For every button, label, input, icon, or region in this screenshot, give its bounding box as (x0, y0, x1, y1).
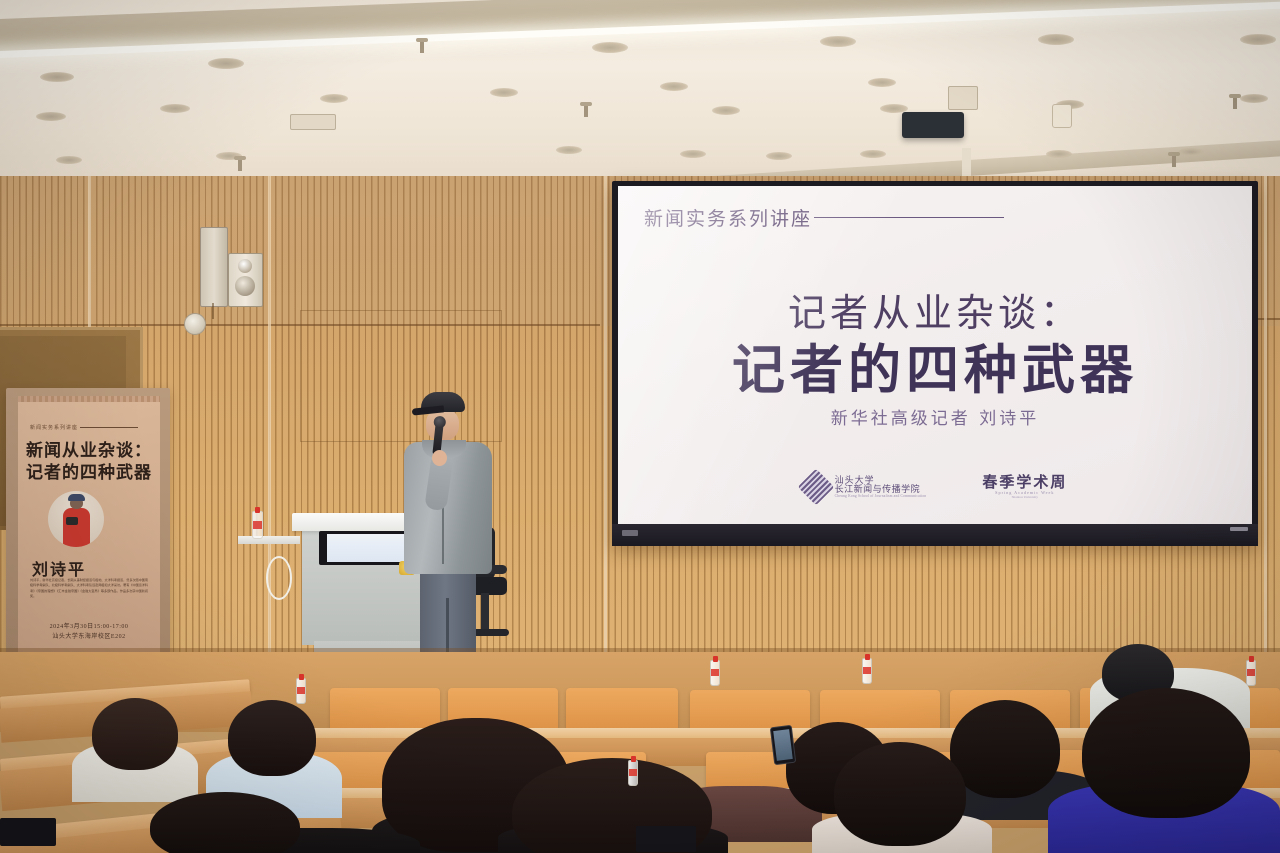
power-cable (266, 556, 292, 600)
presenter (398, 392, 494, 684)
university-logo-line2: 长江新闻与传播学院 (835, 485, 927, 494)
seat-back (330, 688, 440, 732)
screen-ir-sensor-icon (1230, 527, 1248, 531)
water-bottle (1246, 660, 1256, 686)
ceiling-downlight (56, 156, 82, 164)
sprinkler-head (420, 40, 424, 53)
ceiling-downlight (680, 150, 706, 158)
laptop[interactable] (0, 818, 56, 846)
ceiling-downlight (712, 106, 740, 115)
slide-byline: 新华社高级记者 刘诗平 (618, 404, 1252, 429)
audience-head (1082, 688, 1250, 818)
water-bottle (628, 760, 638, 786)
presentation-screen[interactable]: 新闻实务系列讲座 记者从业杂谈： 记者的四种武器 新华社高级记者 刘诗平 汕头大… (618, 186, 1252, 524)
poster-location: 汕头大学东海岸校区E202 (18, 633, 160, 642)
university-logo: 汕头大学 长江新闻与传播学院 Cheung Kong School of Jou… (803, 474, 927, 500)
poster-title-line2: 记者的四种武器 (18, 458, 160, 483)
portrait-cap (68, 494, 85, 501)
screen-bottom-bezel (612, 524, 1258, 546)
ceiling-downlight (320, 94, 348, 103)
ceiling-downlight (766, 152, 792, 160)
poster-series-label: 新闻实务系列讲座 (30, 424, 78, 431)
audience-head (228, 700, 316, 776)
wall-vertical-seam (1264, 176, 1267, 676)
event-poster: 新闻实务系列讲座 新闻从业杂谈： 记者的四种武器 刘诗平 刘诗平，新华社高级记者… (18, 396, 160, 664)
audience-head (834, 742, 966, 846)
event-logo-line2: Spring Academic Week (995, 491, 1054, 496)
ceiling-downlight (660, 82, 688, 91)
ceiling-downlight (1038, 34, 1074, 45)
speaker-woofer-icon (235, 276, 255, 296)
slide-header-rule (814, 217, 1004, 218)
ceiling-downlight (1240, 94, 1268, 103)
wall-sensor-icon (184, 313, 206, 335)
ceiling-downlight (1178, 148, 1204, 156)
ceiling (0, 0, 1280, 190)
sprinkler-head (584, 104, 588, 117)
laptop[interactable] (636, 826, 696, 852)
wall-vertical-seam (88, 176, 91, 328)
event-logo-line3: Shantou University (1012, 496, 1038, 500)
poster-speaker-name: 刘诗平 (32, 556, 86, 580)
speaker-tweeter-icon (238, 259, 252, 273)
ceiling-downlight (1046, 150, 1072, 158)
projector-mount (962, 148, 971, 176)
ceiling-downlight (556, 146, 582, 154)
water-bottle (862, 658, 872, 684)
sprinkler-head (1233, 96, 1237, 109)
ceiling-downlight (1240, 34, 1276, 45)
ceiling-downlight (36, 112, 66, 121)
ceiling-downlight (160, 104, 190, 113)
ceiling-downlight (490, 88, 518, 97)
portrait-body (63, 508, 90, 547)
audience-head (150, 792, 300, 853)
audience-head (950, 700, 1060, 798)
sprinkler-head (1172, 154, 1176, 167)
university-logo-line3: Cheung Kong School of Journalism and Com… (835, 495, 927, 499)
presenter-hand (432, 450, 447, 466)
wall-vertical-seam (268, 176, 271, 676)
wall-vertical-seam (604, 176, 607, 676)
ceiling-vent (290, 114, 336, 130)
water-bottle (710, 660, 720, 686)
audience-head (92, 698, 178, 770)
lecture-hall-photo: 新闻实务系列讲座 记者从业杂谈： 记者的四种武器 新华社高级记者 刘诗平 汕头大… (0, 0, 1280, 853)
slide-series-header: 新闻实务系列讲座 (644, 204, 1004, 231)
sprinkler-head (238, 158, 242, 171)
speaker-portrait (48, 491, 104, 547)
wall-speaker-monitor (228, 253, 263, 307)
ceiling-downlight (40, 72, 74, 82)
poster-datetime: 2024年3月30日15:00-17:00 (18, 623, 160, 632)
slide-title-line2: 记者的四种武器 (618, 328, 1252, 404)
ceiling-speaker (1052, 104, 1072, 128)
ceiling-downlight (820, 36, 856, 47)
poster-header-rule (80, 427, 138, 428)
slide-title-line1: 记者从业杂谈： (618, 282, 1252, 337)
wall-speaker-column (200, 227, 228, 307)
portrait-camera-icon (66, 517, 78, 525)
poster-bio-text: 刘诗平，新华社高级记者，长期从事财经报道与极地、大洋科考报道，曾多次随中国南极科… (30, 578, 148, 600)
event-logo: 春季学术周 Spring Academic Week Shantou Unive… (982, 475, 1067, 500)
screen-brand-logo (622, 530, 638, 536)
water-bottle (252, 511, 263, 539)
poster-top-bar (18, 396, 160, 402)
ceiling-projector (902, 112, 964, 138)
event-logo-line1: 春季学术周 (982, 475, 1067, 492)
seat-back (566, 688, 678, 732)
poster-footer: 2024年3月30日15:00-17:00 汕头大学东海岸校区E202 (18, 623, 160, 642)
ceiling-downlight (868, 78, 896, 87)
slide-logo-row: 汕头大学 长江新闻与传播学院 Cheung Kong School of Jou… (618, 474, 1252, 500)
side-shelf (238, 536, 300, 544)
ceiling-downlight (860, 150, 886, 158)
ceiling-downlight (592, 42, 628, 53)
smartphone-screen (773, 729, 793, 761)
wall-seam (1258, 318, 1280, 320)
speaker-cable (212, 303, 214, 319)
water-bottle (296, 678, 306, 704)
slide-series-label: 新闻实务系列讲座 (644, 204, 812, 231)
ceiling-vent (948, 86, 978, 110)
university-logo-line1: 汕头大学 (835, 476, 927, 485)
university-emblem-icon (797, 469, 834, 506)
poster-standee: 新闻实务系列讲座 新闻从业杂谈： 记者的四种武器 刘诗平 刘诗平，新华社高级记者… (6, 388, 170, 672)
ceiling-downlight (208, 58, 244, 69)
smartphone[interactable] (770, 725, 796, 765)
